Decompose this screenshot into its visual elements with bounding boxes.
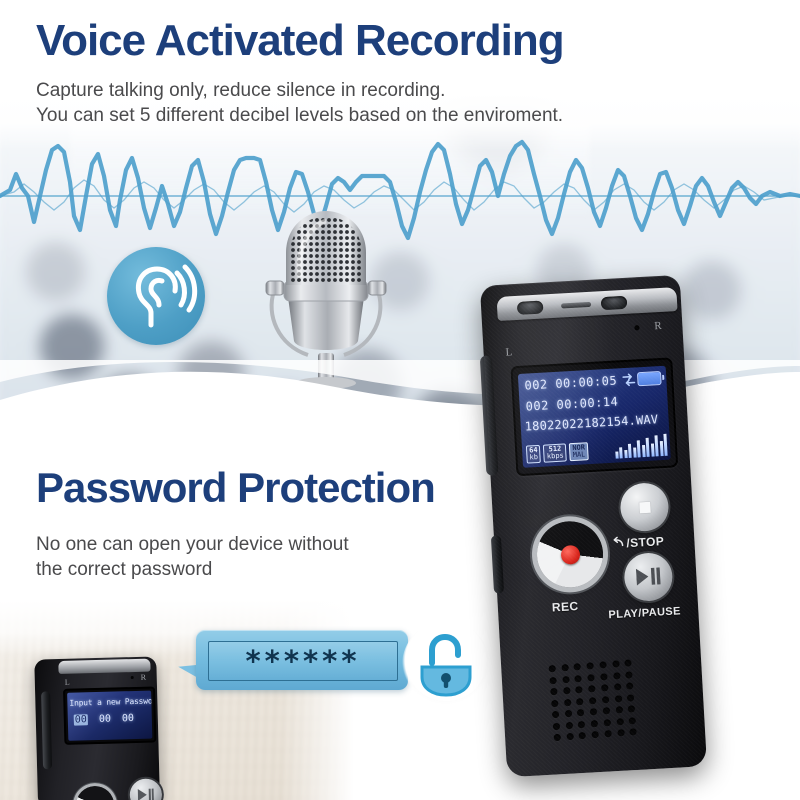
stop-button[interactable] <box>619 482 670 533</box>
speaker-hole <box>576 686 583 693</box>
speaker-hole <box>577 709 584 716</box>
lcd-level-bar <box>659 441 663 456</box>
open-padlock-icon <box>402 621 490 709</box>
speaker-hole <box>604 730 611 737</box>
lcd-level-bar <box>642 445 646 457</box>
play-pause-button[interactable] <box>623 552 674 603</box>
password-digit-2[interactable]: 00 <box>99 714 111 725</box>
speaker-hole <box>562 676 569 683</box>
mini-lcd-screen: Input a new Password 00 00 00 <box>67 691 152 741</box>
ear-listening-icon <box>107 247 205 345</box>
mini-password-digits: 00 00 00 <box>74 713 134 726</box>
speaker-hole <box>549 677 556 684</box>
speaker-hole <box>629 717 636 724</box>
mini-lcd-title: Input a new Password <box>69 697 151 708</box>
voice-recorder-device: L R 002 00:00:05 002 00:00:14 1802202218… <box>473 252 715 783</box>
battery-full-icon <box>637 371 662 386</box>
speaker-hole <box>588 685 595 692</box>
repeat-icon <box>621 371 637 388</box>
mini-top-strip <box>58 659 150 674</box>
speaker-hole <box>614 683 621 690</box>
speaker-hole <box>625 659 632 666</box>
speaker-hole <box>574 663 581 670</box>
speaker-hole <box>590 708 597 715</box>
speaker-hole <box>554 734 561 741</box>
lcd-level-bar <box>663 434 667 456</box>
mini-recorder-body: L R Input a new Password 00 00 00 <box>34 656 160 800</box>
speaker-hole <box>587 662 594 669</box>
speaker-hole <box>612 660 619 667</box>
mini-mic-right-label: R <box>141 673 147 682</box>
speaker-hole <box>579 732 586 739</box>
lcd-bitrate-tag: 512 kbps <box>543 443 567 462</box>
speaker-hole <box>576 698 583 705</box>
speaker-hole <box>566 733 573 740</box>
speaker-hole <box>592 731 599 738</box>
speaker-hole <box>587 674 594 681</box>
lcd-level-bar <box>633 448 637 458</box>
mini-play-pause-button[interactable] <box>129 778 162 800</box>
speaker-hole <box>603 719 610 726</box>
speaker-hole <box>565 722 572 729</box>
password-subtext-line2: the correct password <box>36 557 349 582</box>
play-pause-button-label: PLAY/PAUSE <box>608 605 681 621</box>
lcd-level-bar <box>619 447 623 458</box>
speaker-hole <box>600 673 607 680</box>
side-slider-control[interactable] <box>480 355 499 475</box>
password-subtext-line1: No one can open your device without <box>36 532 349 557</box>
speaker-grille-icon <box>548 659 639 743</box>
lcd-quality-tag: 64 kb <box>526 445 541 464</box>
voice-section-heading: Voice Activated Recording <box>36 16 564 66</box>
lcd-mode-bottom: MAL <box>573 450 586 459</box>
speaker-hole <box>616 718 623 725</box>
lcd-mode-tag: NOR MAL <box>569 442 589 461</box>
lcd-level-bar <box>646 438 650 457</box>
lcd-frame: 002 00:00:05 002 00:00:14 18022022182154… <box>510 357 678 476</box>
speaker-hole <box>630 729 637 736</box>
mini-record-button[interactable] <box>76 786 115 800</box>
password-digit-3[interactable]: 00 <box>122 713 134 724</box>
mic-left-label: L <box>505 346 512 358</box>
speaker-hole <box>614 695 621 702</box>
lcd-level-bar <box>654 435 658 456</box>
speaker-hole <box>563 687 570 694</box>
lcd-status-tags: 64 kb 512 kbps NOR MAL <box>526 442 589 463</box>
recorder-body: L R 002 00:00:05 002 00:00:14 1802202218… <box>480 275 707 777</box>
speaker-hole <box>551 700 558 707</box>
mini-mic-left-label: L <box>65 678 70 687</box>
speaker-hole <box>589 697 596 704</box>
voice-section-subtext: Capture talking only, reduce silence in … <box>36 78 563 128</box>
port-usb-icon[interactable] <box>517 300 544 314</box>
voice-subtext-line2: You can set 5 different decibel levels b… <box>36 103 563 128</box>
top-slit <box>561 302 591 309</box>
password-callout: ****** <box>196 630 408 690</box>
return-arrow-icon <box>611 536 625 551</box>
password-digit-1[interactable]: 00 <box>74 714 88 725</box>
lcd-filename: 18022022182154.WAV <box>524 412 658 433</box>
lcd-track-elapsed: 002 00:00:05 <box>524 373 617 392</box>
mic-hole-icon <box>634 325 639 330</box>
lcd-bitrate-bottom: kbps <box>547 452 564 461</box>
lcd-level-bar <box>628 444 632 458</box>
mini-side-control[interactable] <box>41 691 52 769</box>
speaker-hole <box>565 710 572 717</box>
speaker-hole <box>617 730 624 737</box>
speaker-hole <box>602 696 609 703</box>
lcd-level-bar <box>637 440 641 457</box>
speaker-hole <box>552 711 559 718</box>
lcd-track-total: 002 00:00:14 <box>525 394 618 413</box>
mic-right-label: R <box>654 320 662 332</box>
record-button-label: REC <box>552 599 579 614</box>
speaker-hole <box>615 706 622 713</box>
speaker-hole <box>627 694 634 701</box>
speaker-hole <box>591 720 598 727</box>
speaker-hole <box>548 665 555 672</box>
password-section-heading: Password Protection <box>36 464 435 512</box>
stop-button-label: /STOP <box>611 534 664 551</box>
speaker-hole <box>601 684 608 691</box>
speaker-hole <box>603 707 610 714</box>
record-button[interactable] <box>535 520 605 590</box>
port-headphone-icon[interactable] <box>601 296 628 310</box>
lcd-level-bar <box>650 444 654 457</box>
mini-voice-recorder: L R Input a new Password 00 00 00 <box>20 646 174 800</box>
lcd-quality-bottom: kb <box>529 453 538 461</box>
voice-subtext-line1: Capture talking only, reduce silence in … <box>36 78 563 103</box>
speaker-hole <box>561 664 568 671</box>
speaker-hole <box>564 699 571 706</box>
infographic-page: L R Input a new Password 00 00 00 * <box>0 0 800 800</box>
speaker-hole <box>553 723 560 730</box>
speaker-hole <box>575 675 582 682</box>
recorder-top-strip <box>497 287 678 321</box>
speaker-hole <box>599 661 606 668</box>
lcd-screen: 002 00:00:05 002 00:00:14 18022022182154… <box>518 366 671 468</box>
lcd-level-bar <box>615 452 618 459</box>
speaker-hole <box>626 682 633 689</box>
mini-lcd-frame: Input a new Password 00 00 00 <box>63 686 156 744</box>
speaker-hole <box>628 706 635 713</box>
stop-label-text: /STOP <box>626 534 665 550</box>
speaker-hole <box>625 671 632 678</box>
speaker-hole <box>613 672 620 679</box>
password-section-subtext: No one can open your device without the … <box>36 532 349 582</box>
lcd-level-meter <box>614 434 668 459</box>
speaker-hole <box>578 721 585 728</box>
password-masked-field[interactable]: ****** <box>208 641 398 681</box>
speaker-hole <box>550 688 557 695</box>
side-volume-control[interactable] <box>491 535 504 593</box>
lcd-level-bar <box>624 450 627 458</box>
mini-mic-hole-icon <box>131 676 134 679</box>
